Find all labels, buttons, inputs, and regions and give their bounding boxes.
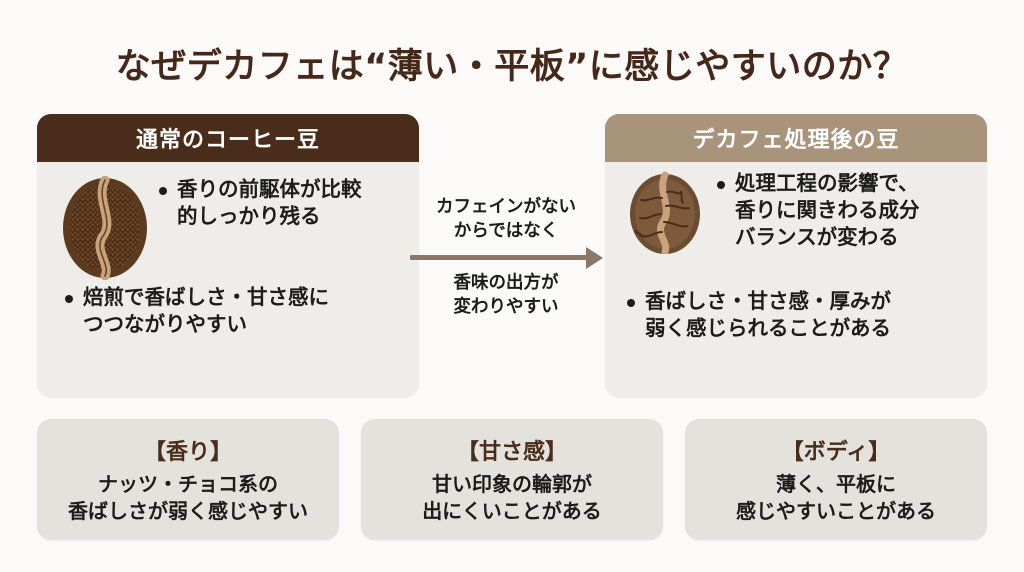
bullet-dot-icon <box>159 187 167 195</box>
panel-decaf-header: デカフェ処理後の豆 <box>605 114 987 162</box>
summary-card-body: 【ボディ】 薄く、平板に 感じやすいことがある <box>685 419 987 540</box>
panel-regular-header: 通常のコーヒー豆 <box>37 114 419 162</box>
bullet-dot-icon <box>627 299 635 307</box>
bullet-item: 香りの前駆体が比較 的しっかり残る <box>159 176 409 230</box>
panel-decaf-body: 処理工程の影響で、 香りに関きわる成分 バランスが変わる 香ばしさ・甘さ感・厚み… <box>605 162 987 397</box>
coffee-bean-icon <box>59 176 151 280</box>
summary-card-aroma: 【香り】 ナッツ・チョコ系の 香ばしさが弱く感じやすい <box>37 419 339 540</box>
arrow-caption-top: カフェインがない からではなく <box>408 196 604 243</box>
summary-card-heading: 【甘さ感】 <box>457 434 567 466</box>
summary-card-text: 薄く、平板に 感じやすいことがある <box>736 471 936 525</box>
summary-card-sweetness: 【甘さ感】 甘い印象の輪郭が 出にくいことがある <box>361 419 663 540</box>
arrow-shaft-icon <box>410 255 592 260</box>
panel-regular-body: 香りの前駆体が比較 的しっかり残る 焙煎で香ばしさ・甘さ感に つつながりやすい <box>37 162 419 397</box>
panel-regular-beans: 通常のコーヒー豆 <box>37 114 419 397</box>
bullet-text: 処理工程の影響で、 香りに関きわる成分 バランスが変わる <box>735 170 920 251</box>
bullet-item: 香ばしさ・甘さ感・厚みが 弱く感じられることがある <box>627 288 979 342</box>
cracked-coffee-bean-icon <box>623 170 707 254</box>
bullet-text: 香ばしさ・甘さ感・厚みが 弱く感じられることがある <box>645 288 891 342</box>
summary-card-text: 甘い印象の輪郭が 出にくいことがある <box>422 471 602 525</box>
summary-card-heading: 【香り】 <box>144 434 232 466</box>
bullet-text: 香りの前駆体が比較 的しっかり残る <box>177 176 362 230</box>
infographic-canvas: なぜデカフェは“薄い・平板”に感じやすいのか？ 通常のコーヒー豆 <box>0 0 1024 572</box>
bullet-item: 処理工程の影響で、 香りに関きわる成分 バランスが変わる <box>717 170 977 251</box>
bullet-dot-icon <box>717 181 725 189</box>
arrow-caption-bottom: 香味の出方が 変わりやすい <box>408 272 604 319</box>
bullet-dot-icon <box>65 295 73 303</box>
arrow-head-icon <box>586 247 603 269</box>
bullet-item: 焙煎で香ばしさ・甘さ感に つつながりやすい <box>65 284 415 338</box>
summary-card-heading: 【ボディ】 <box>782 434 890 466</box>
transition-arrow-group: カフェインがない からではなく 香味の出方が 変わりやすい <box>408 196 604 316</box>
page-title: なぜデカフェは“薄い・平板”に感じやすいのか？ <box>0 38 1024 89</box>
bullet-text: 焙煎で香ばしさ・甘さ感に つつながりやすい <box>83 284 329 338</box>
panel-decaf-beans: デカフェ処理後の豆 <box>605 114 987 397</box>
summary-card-text: ナッツ・チョコ系の 香ばしさが弱く感じやすい <box>68 471 308 525</box>
